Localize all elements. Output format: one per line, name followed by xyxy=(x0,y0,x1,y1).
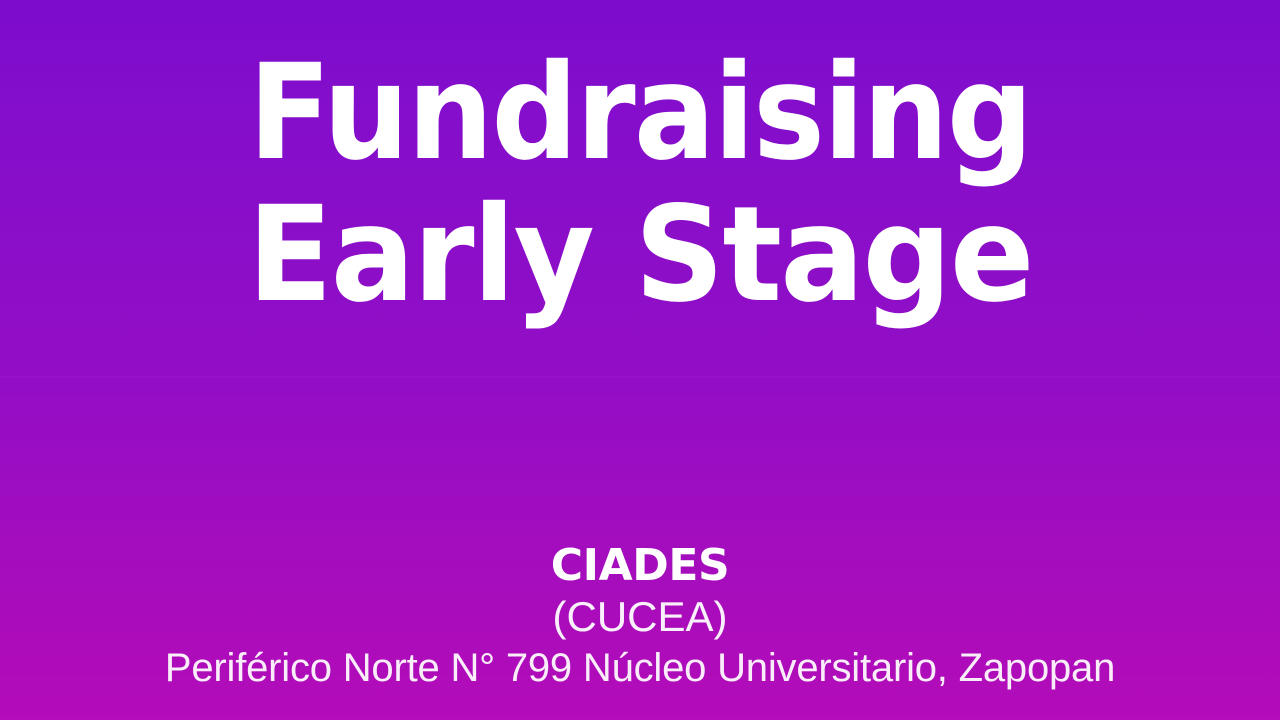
slide-title: Fundraising Early Stage xyxy=(0,42,1280,326)
venue-address: Periférico Norte N° 799 Núcleo Universit… xyxy=(0,642,1280,694)
title-line-2: Early Stage xyxy=(35,184,1245,326)
presentation-slide: Fundraising Early Stage CIADES (CUCEA) P… xyxy=(0,0,1280,720)
title-line-1: Fundraising xyxy=(54,42,1225,184)
slide-seam-divider xyxy=(0,376,1280,378)
venue-campus: (CUCEA) xyxy=(0,592,1280,642)
venue-info-block: CIADES (CUCEA) Periférico Norte N° 799 N… xyxy=(0,540,1280,694)
venue-name: CIADES xyxy=(0,540,1280,592)
